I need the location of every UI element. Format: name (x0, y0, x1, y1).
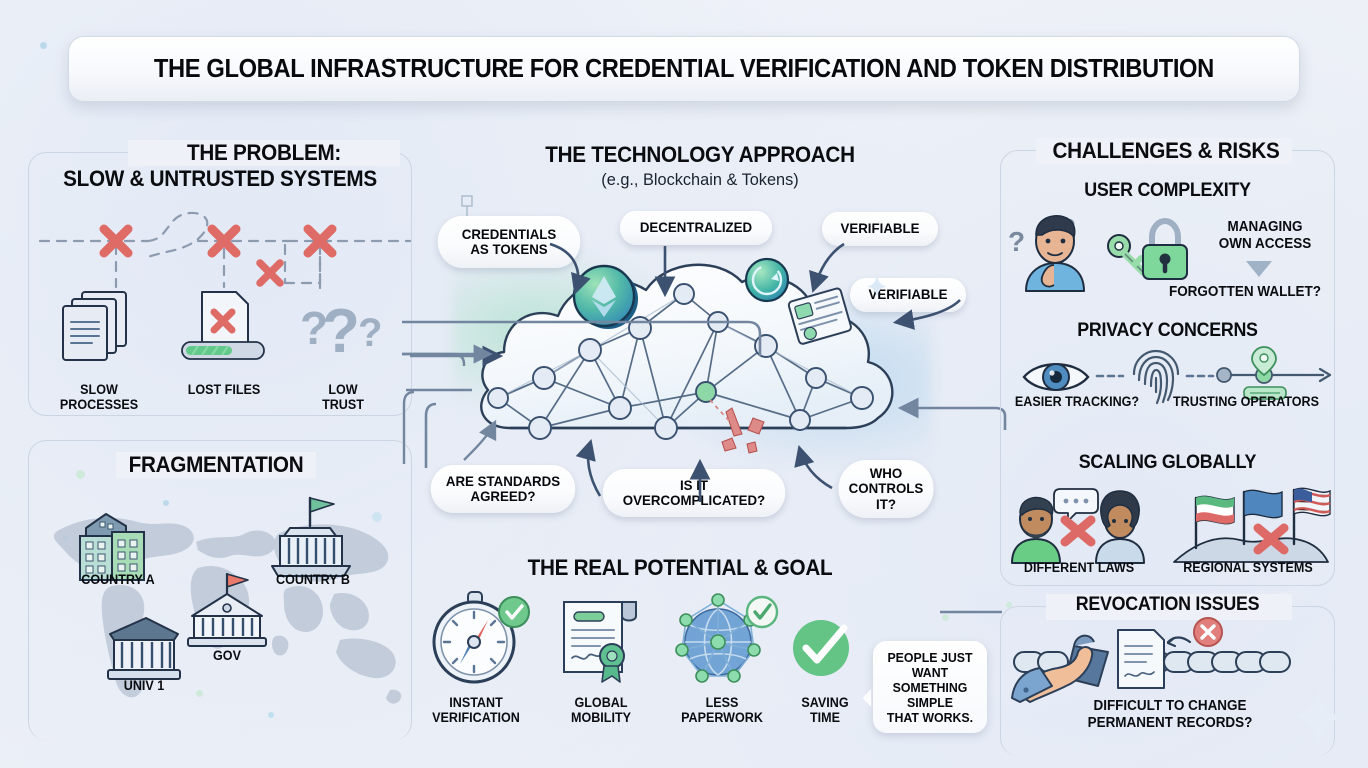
certificate-seal-icon (556, 596, 648, 684)
problem-item-label: SLOW PROCESSES (42, 382, 155, 412)
easier-tracking-label: EASIER TRACKING? (1011, 395, 1143, 409)
privacy-concerns-title: PRIVACY CONCERNS (1010, 320, 1325, 342)
svg-text:?: ? (1008, 226, 1025, 257)
quote-line3: SOMETHING (893, 680, 968, 695)
goal-item-label-line2: VERIFICATION (413, 710, 539, 725)
scaling-globally-title: SCALING GLOBALLY (1010, 452, 1325, 474)
sparkle-icon (866, 274, 888, 298)
regional-systems-label: REGIONAL SYSTEMS (1166, 561, 1330, 575)
padlock-icon (1137, 217, 1193, 283)
goal-item-label-line1: LESS (662, 695, 781, 710)
managing-own-access-line1: MANAGING (1203, 219, 1328, 236)
quote-line4: SIMPLE (907, 695, 953, 710)
documents-stack-icon (58, 290, 138, 362)
goal-item-label: LESS PAPERWORK (662, 695, 781, 725)
challenges-heading: CHALLENGES & RISKS (1025, 138, 1307, 164)
revocation-label-line2: PERMANENT RECORDS? (1045, 715, 1294, 732)
revocation-label: DIFFICULT TO CHANGE PERMANENT RECORDS? (1045, 698, 1294, 732)
right-to-center-connector (895, 392, 1015, 432)
revocation-label-line1: DIFFICULT TO CHANGE (1045, 698, 1294, 715)
different-laws-label: DIFFERENT LAWS (1009, 561, 1149, 575)
goal-item-label-line2: PAPERWORK (662, 710, 781, 725)
fragmentation-heading: FRAGMENTATION (103, 452, 329, 478)
technology-heading: THE TECHNOLOGY APPROACH (463, 142, 937, 168)
problem-item-label-line2: PROCESSES (42, 397, 155, 412)
managing-own-access-line2: OWN ACCESS (1203, 236, 1328, 253)
goal-item-label: SAVING TIME (787, 695, 863, 725)
goal-heading: THE REAL POTENTIAL & GOAL (454, 555, 905, 581)
university-icon (100, 612, 186, 684)
trusting-operators-label: TRUSTING OPERATORS (1159, 395, 1334, 409)
problem-item-label-line1: LOST FILES (167, 382, 280, 397)
page-title-bar: THE GLOBAL INFRASTRUCTURE FOR CREDENTIAL… (68, 36, 1300, 102)
thinking-person-icon: ? ? (1008, 205, 1108, 295)
dashed-link-icon (1186, 372, 1214, 380)
quote-line1: PEOPLE JUST (887, 650, 972, 665)
goal-item-label: INSTANT VERIFICATION (413, 695, 539, 725)
fragmentation-marker-label: GOV (185, 648, 269, 663)
svg-text:?: ? (322, 297, 360, 366)
quote-bubble: PEOPLE JUST WANT SOMETHING SIMPLE THAT W… (873, 641, 987, 733)
government-building-icon (182, 570, 272, 648)
quote-line5: THAT WORKS. (887, 710, 973, 725)
problem-heading-line2: SLOW & UNTRUSTED SYSTEMS (40, 166, 401, 192)
problem-heading-line1: THE PROBLEM: (136, 140, 392, 166)
hand-stamp-chain-icon (1012, 622, 1302, 702)
technology-subheading: (e.g., Blockchain & Tokens) (458, 170, 942, 190)
file-error-icon (180, 290, 266, 362)
decor-dot (40, 42, 47, 49)
dashed-link-icon (1096, 372, 1124, 380)
government-dome-icon (258, 492, 354, 582)
goal-item-label-line2: MOBILITY (542, 710, 659, 725)
problem-item-label: LOST FILES (167, 382, 280, 397)
revocation-title: REVOCATION ISSUES (1010, 594, 1325, 616)
goal-item-label: GLOBAL MOBILITY (542, 695, 659, 725)
problem-item-label-line2: TRUST (286, 397, 399, 412)
svg-text:?: ? (358, 311, 382, 355)
goal-item-label-line1: INSTANT (413, 695, 539, 710)
managing-own-access-label: MANAGING OWN ACCESS (1203, 219, 1328, 253)
sparkle-icon (1290, 686, 1346, 748)
quote-line2: WANT (912, 665, 948, 680)
forgotten-wallet-label: FORGOTTEN WALLET? (1157, 285, 1334, 300)
globe-network-check-icon (670, 592, 774, 688)
revocation-connector (940, 594, 1010, 618)
goal-item-label-line1: GLOBAL (542, 695, 659, 710)
compass-check-icon (428, 590, 532, 686)
problem-item-label: LOW TRUST (286, 382, 399, 412)
flags-icon (1170, 482, 1330, 566)
infographic-canvas: THE GLOBAL INFRASTRUCTURE FOR CREDENTIAL… (0, 0, 1368, 768)
user-complexity-title: USER COMPLEXITY (1010, 180, 1325, 202)
left-to-center-connectors (402, 348, 512, 468)
red-x-icon (1058, 514, 1098, 548)
question-marks-icon: ? ? ? (296, 292, 388, 360)
down-arrow-icon (1244, 259, 1274, 279)
eye-icon (1020, 356, 1092, 398)
goal-item-label-line2: TIME (787, 710, 863, 725)
fragmentation-marker-label: COUNTRY A (53, 572, 183, 587)
fragmentation-marker-label: UNIV 1 (101, 678, 187, 693)
goal-item-label-line1: SAVING (787, 695, 863, 710)
problem-item-label-line1: LOW (286, 382, 399, 397)
green-check-icon (788, 612, 858, 680)
problem-item-label-line1: SLOW (42, 382, 155, 397)
page-title: THE GLOBAL INFRASTRUCTURE FOR CREDENTIAL… (154, 55, 1214, 84)
